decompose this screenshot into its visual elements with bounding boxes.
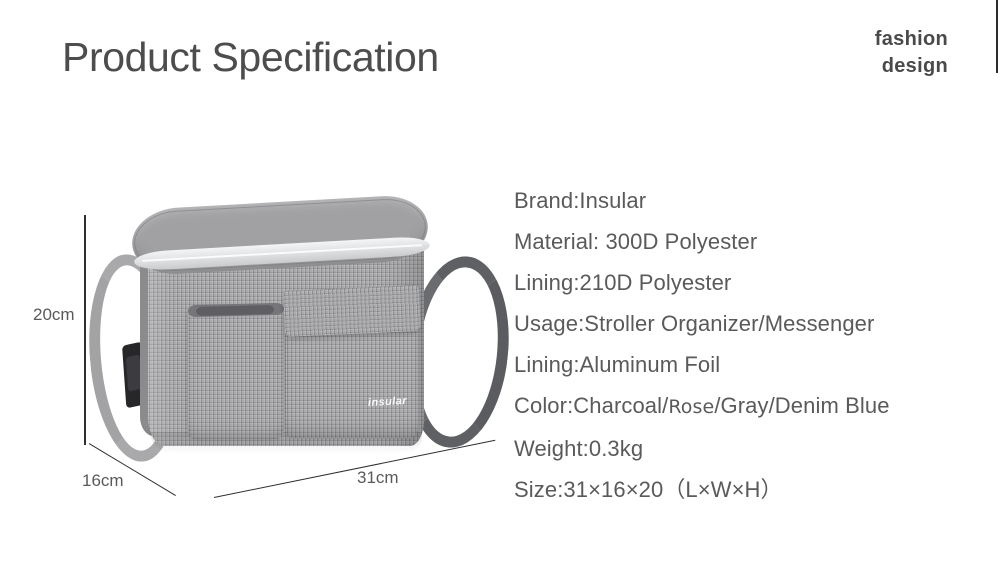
height-dimension-line: [84, 215, 86, 445]
spec-color-highlight: Rose: [668, 396, 714, 418]
product-illustration: 20cm 16cm 31cm insular: [0, 0, 500, 576]
stroller-organizer-bag: insular: [96, 196, 496, 466]
spec-color-prefix: Color:Charcoal/: [514, 393, 668, 418]
product-specification-page: Product Specification fashion design 20c…: [0, 0, 1000, 576]
dimension-label-length: 31cm: [357, 468, 399, 488]
spec-row-lining: Lining:210D Polyester: [514, 262, 984, 303]
tagline-line-2: design: [728, 53, 948, 80]
spec-color-suffix: /Gray/Denim Blue: [714, 393, 889, 418]
spec-row-material: Material: 300D Polyester: [514, 221, 984, 262]
dimension-label-depth: 16cm: [82, 471, 124, 491]
dimension-label-height: 20cm: [33, 305, 75, 325]
spec-row-lining-foil: Lining:Aluminum Foil: [514, 344, 984, 385]
tagline-line-1: fashion: [728, 26, 948, 53]
corner-rule-divider: [996, 0, 998, 73]
spec-row-usage: Usage:Stroller Organizer/Messenger: [514, 303, 984, 344]
spec-row-size: Size:31×16×20（L×W×H）: [514, 469, 984, 510]
specification-list: Brand:Insular Material: 300D Polyester L…: [514, 180, 984, 510]
brand-logo-mark: insular: [368, 395, 407, 409]
bottle-pocket: [188, 308, 284, 440]
spec-row-weight: Weight:0.3kg: [514, 428, 984, 469]
front-flap-pocket-lid: [283, 285, 421, 337]
spec-row-color: Color:Charcoal/Rose/Gray/Denim Blue: [514, 385, 984, 428]
spec-row-brand: Brand:Insular: [514, 180, 984, 221]
tagline: fashion design: [728, 26, 948, 80]
